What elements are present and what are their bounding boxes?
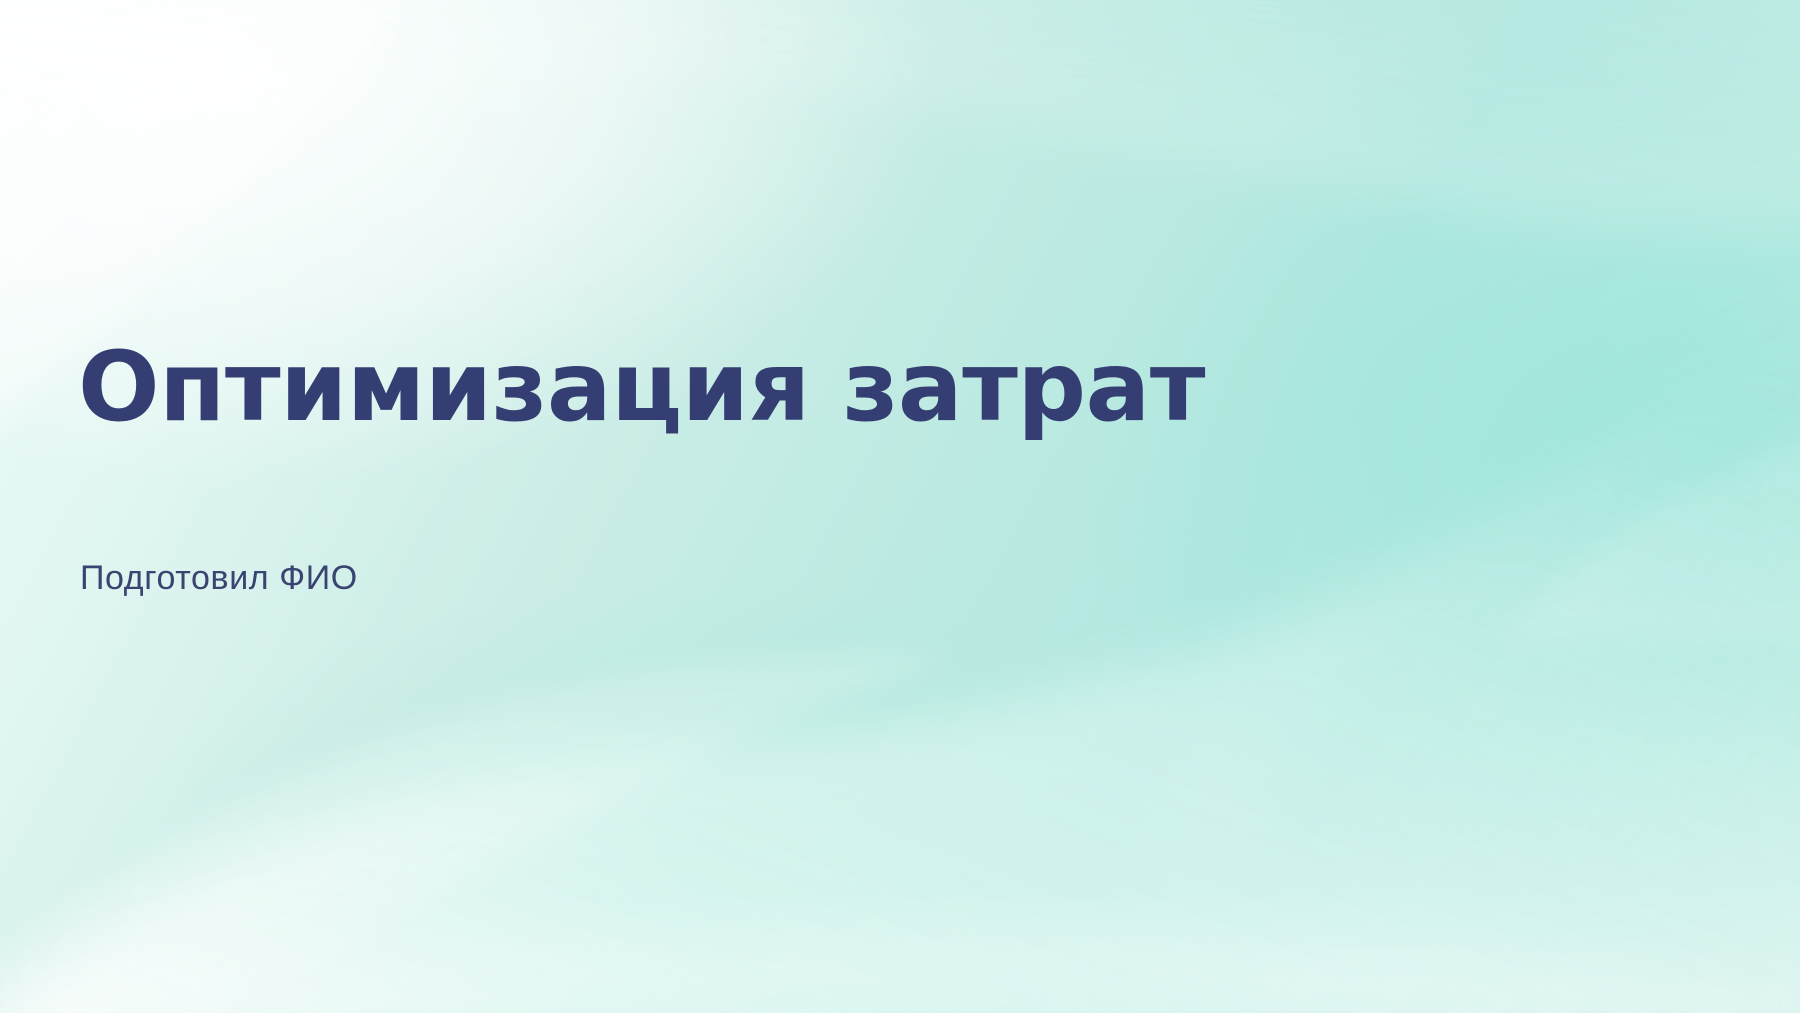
page-title: Оптимизация затрат	[78, 338, 1205, 438]
slide-content: Оптимизация затрат Подготовил ФИО	[78, 0, 1478, 1013]
slide-subtitle-author: Подготовил ФИО	[80, 558, 358, 599]
title-slide: Оптимизация затрат Подготовил ФИО	[0, 0, 1800, 1013]
